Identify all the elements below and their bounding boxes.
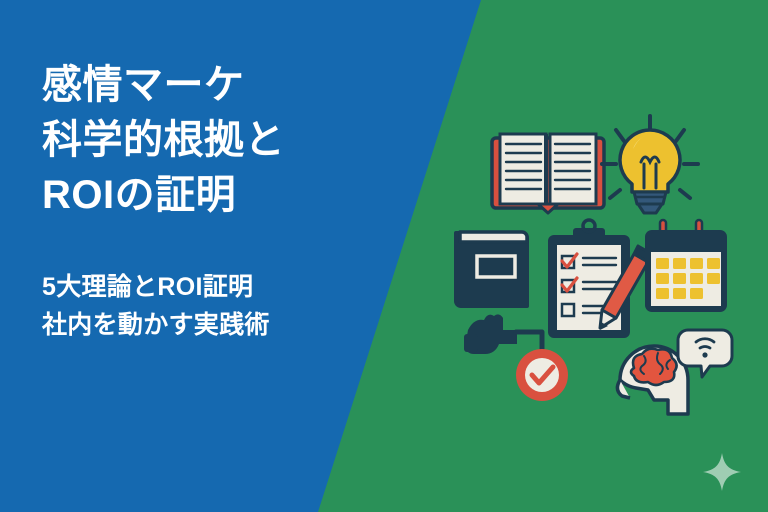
sparkle-icon [700, 450, 744, 494]
closed-book-icon [456, 232, 527, 306]
hand-pointer-icon [464, 314, 517, 354]
subtitle-line-1: 5大理論とROI証明 [42, 268, 372, 306]
slide-canvas: 感情マーケ 科学的根拠と ROIの証明 5大理論とROI証明 社内を動かす実践術 [0, 0, 768, 512]
brain-shape [631, 349, 677, 385]
title-line-3: ROIの証明 [42, 168, 372, 223]
subtitle-block: 5大理論とROI証明 社内を動かす実践術 [42, 268, 372, 344]
lightbulb-icon [602, 116, 698, 213]
text-block: 感情マーケ 科学的根拠と ROIの証明 5大理論とROI証明 社内を動かす実践術 [42, 58, 372, 344]
title-line-2: 科学的根拠と [42, 113, 372, 168]
clipboard-checklist-icon [548, 220, 630, 338]
title-line-1: 感情マーケ [42, 58, 372, 113]
subtitle-line-2: 社内を動かす実践術 [42, 306, 372, 344]
calendar-icon [645, 220, 727, 312]
page-title: 感情マーケ 科学的根拠と ROIの証明 [42, 58, 372, 224]
check-circle-icon [516, 349, 568, 401]
illustration-group [438, 108, 738, 420]
open-book-icon [492, 134, 604, 213]
